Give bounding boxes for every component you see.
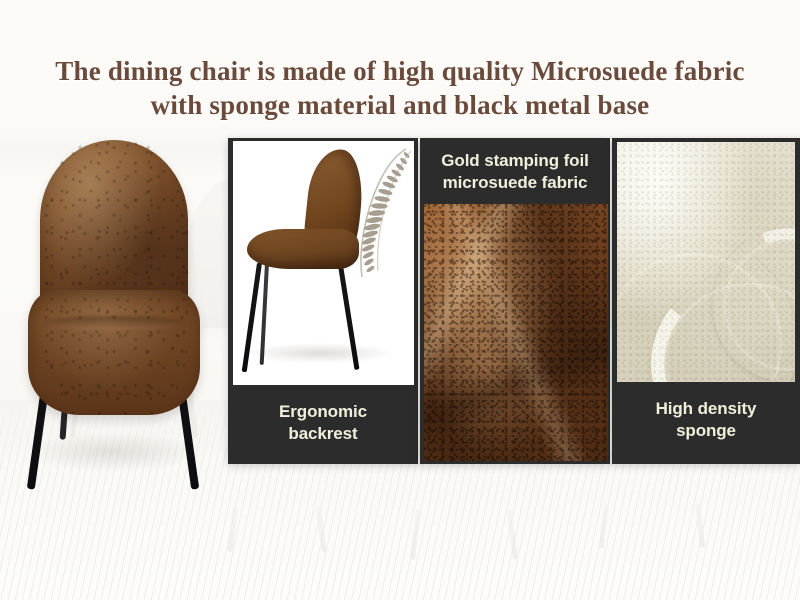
ghost-chair-legs <box>592 452 712 548</box>
ghost-chair-legs <box>404 452 524 560</box>
hero-chair-image <box>18 140 208 485</box>
high-density-sponge-photo <box>617 142 795 382</box>
feature-panel-gold-stamping-foil[interactable]: Gold stamping foil microsuede fabric <box>420 138 610 464</box>
sponge-pore-speckle <box>617 142 795 382</box>
ghost-chair-leg <box>227 506 238 552</box>
ghost-chair-leg <box>410 510 421 560</box>
hero-chair-shadow <box>24 432 202 472</box>
feature-panel-ergonomic-backrest[interactable]: Ergonomic backrest <box>228 138 418 464</box>
side-chair-shadow <box>245 343 395 363</box>
hero-chair-suede-texture <box>40 140 188 415</box>
side-chair-seat <box>247 229 359 269</box>
headline-text: The dining chair is made of high quality… <box>0 54 800 122</box>
ghost-chair-leg <box>507 510 518 560</box>
ghost-chair-leg <box>316 506 327 552</box>
ghost-chair-legs <box>222 452 332 552</box>
gold-stamping-foil-caption: Gold stamping foil microsuede fabric <box>420 138 610 204</box>
high-density-sponge-caption: High density sponge <box>612 382 800 464</box>
ergonomic-backrest-photo <box>233 141 414 385</box>
microsuede-fabric-speckle <box>424 204 608 461</box>
feature-panel-high-density-sponge[interactable]: High density sponge <box>612 138 800 464</box>
spine-diagram-icon <box>356 145 412 285</box>
ghost-chair-leg <box>599 504 609 548</box>
gold-stamping-foil-photo <box>424 204 608 461</box>
product-feature-infographic: The dining chair is made of high quality… <box>0 0 800 600</box>
ergonomic-backrest-caption: Ergonomic backrest <box>228 385 418 464</box>
ghost-chair-leg <box>695 504 705 548</box>
